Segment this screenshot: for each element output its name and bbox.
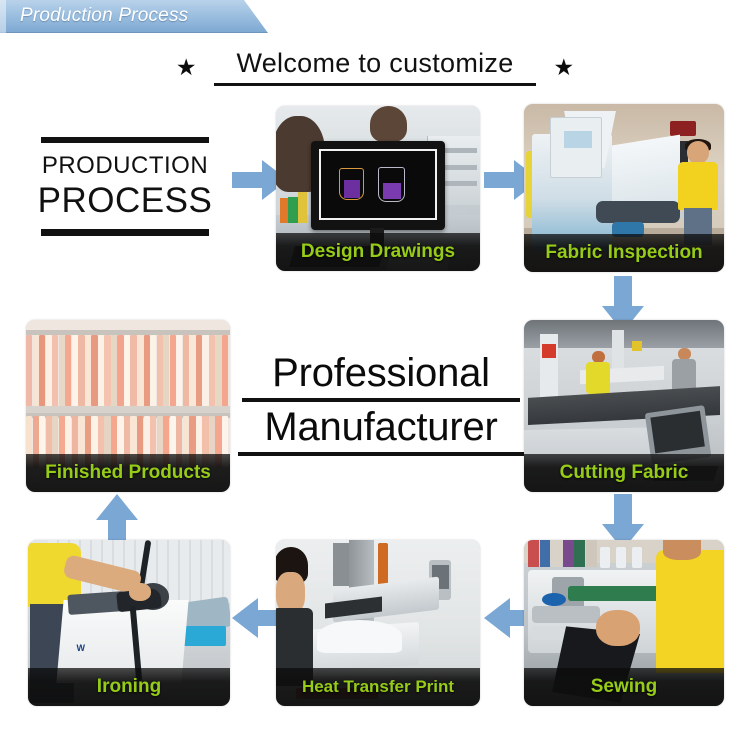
- center-rule-bottom: [238, 452, 524, 456]
- wordmark-rule-bottom: [41, 229, 209, 236]
- caption-design-drawings: Design Drawings: [276, 233, 480, 271]
- caption-sewing: Sewing: [524, 668, 724, 706]
- production-process-tab[interactable]: Production Process: [0, 0, 268, 33]
- process-flow-grid: PRODUCTION PROCESS: [0, 96, 750, 730]
- center-line-2: Manufacturer: [264, 406, 497, 448]
- production-process-infographic: Production Process ★ Welcome to customiz…: [0, 0, 750, 730]
- step-card-design-drawings[interactable]: Design Drawings: [276, 106, 480, 271]
- caption-cutting-fabric: Cutting Fabric: [524, 454, 724, 492]
- step-card-ironing[interactable]: W Ironing: [28, 540, 230, 706]
- header-tab-bar: Production Process: [0, 0, 750, 34]
- step-card-finished-products[interactable]: Finished Products: [26, 320, 230, 492]
- step-card-heat-transfer-print[interactable]: Heat Transfer Print: [276, 540, 480, 706]
- welcome-banner: ★ Welcome to customize ★: [0, 44, 750, 90]
- production-process-wordmark: PRODUCTION PROCESS: [20, 116, 230, 256]
- step-card-fabric-inspection[interactable]: Fabric Inspection: [524, 104, 724, 272]
- center-rule-middle: [242, 398, 520, 402]
- caption-heat-transfer-print: Heat Transfer Print: [276, 668, 480, 706]
- center-line-1: Professional: [272, 352, 490, 394]
- step-card-sewing[interactable]: Sewing: [524, 540, 724, 706]
- step-card-cutting-fabric[interactable]: Cutting Fabric: [524, 320, 724, 492]
- wordmark-line-2: PROCESS: [38, 181, 213, 221]
- caption-finished-products: Finished Products: [26, 454, 230, 492]
- tab-accent-stripe: [0, 0, 6, 33]
- caption-ironing: Ironing: [28, 668, 230, 706]
- welcome-text: Welcome to customize: [236, 48, 513, 78]
- professional-manufacturer-wordmark: Professional Manufacturer: [238, 336, 524, 476]
- welcome-underline: Welcome to customize: [214, 48, 535, 86]
- star-right-icon: ★: [554, 56, 575, 79]
- wordmark-rule-top: [41, 137, 209, 143]
- wordmark-line-1: PRODUCTION: [42, 152, 208, 180]
- star-left-icon: ★: [176, 56, 197, 79]
- tab-title: Production Process: [20, 5, 188, 27]
- caption-fabric-inspection: Fabric Inspection: [524, 234, 724, 272]
